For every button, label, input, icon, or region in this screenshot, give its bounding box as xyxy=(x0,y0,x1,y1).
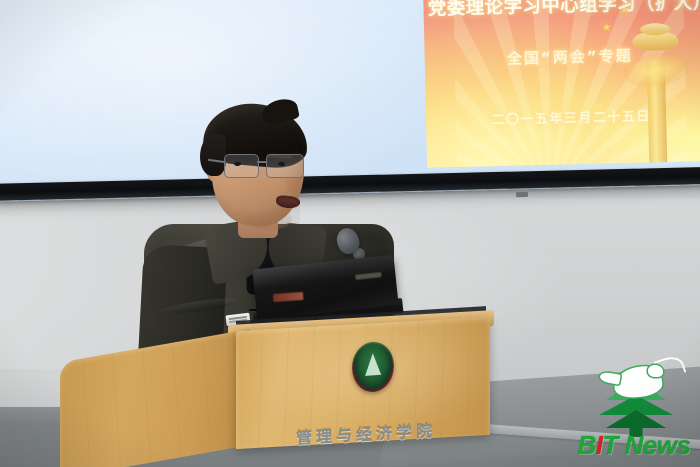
slide-title: 党委理论学习中心组学习（扩大）会议 xyxy=(428,0,700,21)
dove-tail-icon xyxy=(599,371,620,384)
speaker-chin-shadow xyxy=(246,208,292,230)
lectern-podium: 管理与经济学院 xyxy=(60,327,490,467)
watermark-text-b: B xyxy=(577,430,595,460)
podium-side-panel xyxy=(60,329,250,467)
presentation-slide: ★ ★ ★ ★ ★ ★ 党委理论学习中心组学习（扩大）会议 全国“两会”专题 二… xyxy=(423,0,700,168)
watermark-text-rest: T News xyxy=(602,430,690,460)
watermark-text: BIT News xyxy=(574,430,694,461)
bit-news-watermark: BIT News xyxy=(574,359,694,463)
slide-subtitle: 全国“两会”专题 xyxy=(425,43,700,71)
speaker-hair-side xyxy=(200,134,226,176)
pine-tree-logo-icon xyxy=(598,361,674,435)
slide-date: 二〇一五年三月二十五日 xyxy=(426,104,700,130)
screen-sensor-icon xyxy=(516,192,528,197)
slide-text-block: 党委理论学习中心组学习（扩大）会议 全国“两会”专题 二〇一五年三月二十五日 xyxy=(423,0,700,168)
screenshot-photo: ★ ★ ★ ★ ★ ★ 党委理论学习中心组学习（扩大）会议 全国“两会”专题 二… xyxy=(0,0,700,467)
eyeglasses-icon xyxy=(224,154,308,178)
